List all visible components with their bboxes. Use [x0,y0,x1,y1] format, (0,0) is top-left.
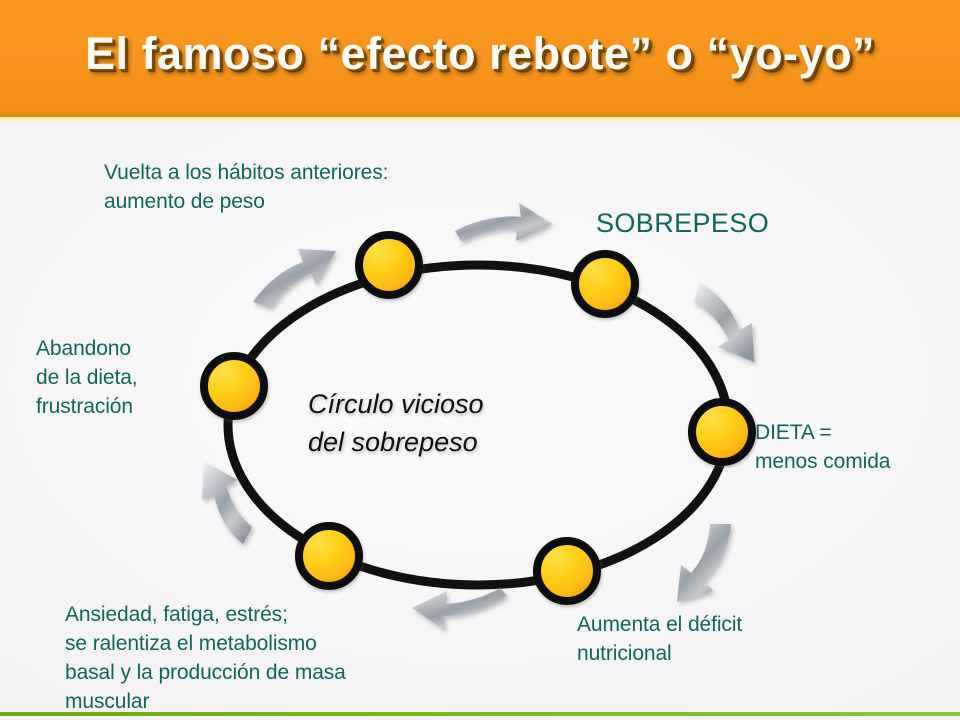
label-deficit: Aumenta el déficit nutricional [577,610,742,668]
node-abandono[interactable] [204,356,264,416]
node-ansiedad[interactable] [299,526,359,586]
diagram-center-label: Círculo vicioso del sobrepeso [308,385,538,461]
bottom-accent-rule-shadow [0,716,960,720]
label-dieta: DIETA = menos comida [755,418,890,476]
label-abandono-dieta: Abandono de la dieta, frustración [36,334,138,421]
arrow-lower-right-icon [677,524,731,602]
node-vuelta[interactable] [359,235,419,295]
arrow-bottom-icon [412,588,507,630]
label-sobrepeso: SOBREPESO [596,207,769,239]
slide-canvas: El famoso “efecto rebote” o “yo-yo” [0,0,960,720]
label-ansiedad: Ansiedad, fatiga, estrés; se ralentiza e… [65,600,346,716]
label-vuelta-habitos: Vuelta a los hábitos anteriores: aumento… [104,158,388,216]
arrow-top-right-icon [455,203,552,242]
node-deficit[interactable] [537,541,597,601]
node-dieta[interactable] [692,402,752,462]
node-sobrepeso[interactable] [575,254,635,314]
